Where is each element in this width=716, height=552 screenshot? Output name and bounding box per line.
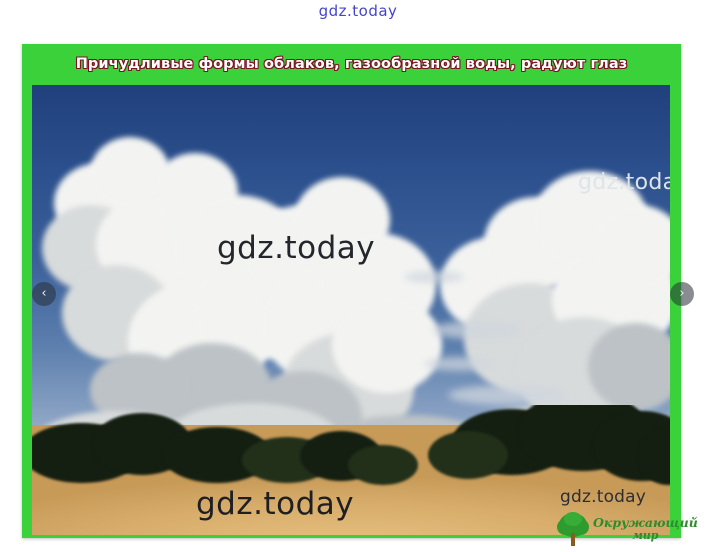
slide-caption-text: Причудливые формы облаков, газообразной … bbox=[76, 56, 628, 72]
brand-line-2: мир bbox=[593, 530, 698, 541]
chevron-right-icon: › bbox=[679, 286, 684, 301]
tree-icon bbox=[556, 511, 590, 547]
brand-text: Окружающий мир bbox=[593, 517, 698, 541]
slider-next-button[interactable]: › bbox=[670, 282, 694, 306]
slide-caption-bar: Причудливые формы облаков, газообразной … bbox=[22, 44, 681, 84]
slide-photo: gdz.today gdz.today bbox=[32, 85, 670, 535]
slider-prev-button[interactable]: ‹ bbox=[32, 282, 56, 306]
page-top-watermark: gdz.today bbox=[0, 2, 716, 20]
chevron-left-icon: ‹ bbox=[41, 286, 46, 301]
brand-line-1: Окружающий bbox=[593, 517, 698, 530]
image-slider: Причудливые формы облаков, газообразной … bbox=[22, 44, 681, 538]
brand-logo[interactable]: Окружающий мир bbox=[556, 509, 682, 549]
